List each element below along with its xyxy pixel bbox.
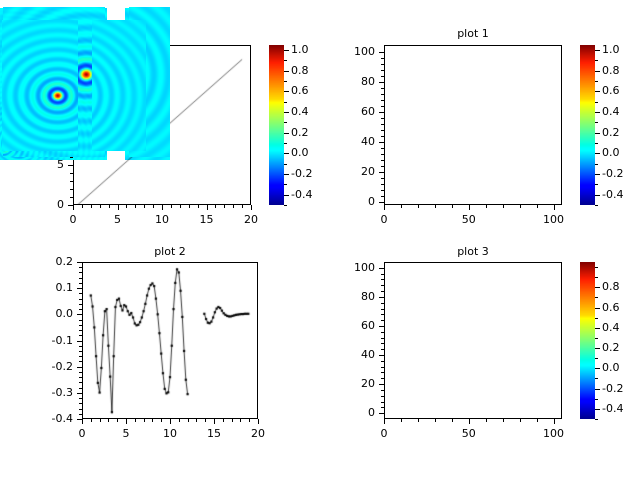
y-tick-minor (381, 390, 384, 391)
x-tick-minor (401, 419, 402, 422)
x-tick-minor (486, 419, 487, 422)
y-tick-minor (381, 361, 384, 362)
heatmap-image-1 (92, 20, 146, 151)
colorbar-tick (595, 409, 600, 410)
x-tick-major (554, 419, 555, 424)
y-tick-label: 100 (329, 261, 375, 274)
y-tick-minor (381, 309, 384, 310)
colorbar-tick-label: -0.4 (602, 402, 623, 415)
y-tick-major (379, 297, 384, 298)
figure-canvas: 0510152005101520-0.4-0.20.00.20.40.60.81… (0, 0, 640, 480)
x-tick-label: 100 (530, 427, 578, 440)
y-tick-major (379, 326, 384, 327)
colorbar-gradient (580, 262, 595, 419)
y-tick-minor (381, 279, 384, 280)
x-tick-minor (435, 419, 436, 422)
x-tick-minor (452, 419, 453, 422)
x-tick-minor (503, 419, 504, 422)
colorbar-tick (595, 308, 600, 309)
colorbar-tick-minor (595, 419, 598, 420)
colorbar-tick-label: 0.0 (602, 361, 620, 374)
y-tick-minor (381, 343, 384, 344)
y-tick-major (379, 413, 384, 414)
y-tick-minor (381, 372, 384, 373)
x-tick-major (384, 419, 385, 424)
colorbar-tick (595, 287, 600, 288)
colorbar-tick-minor (595, 297, 598, 298)
y-tick-minor (381, 314, 384, 315)
y-tick-minor (381, 332, 384, 333)
colorbar-tick-minor (595, 338, 598, 339)
y-tick-minor (381, 396, 384, 397)
y-tick-minor (381, 349, 384, 350)
plot-title-plot-3: plot 3 (384, 245, 562, 258)
colorbar-tick (595, 389, 600, 390)
y-tick-label: 20 (329, 377, 375, 390)
colorbar-tick-minor (595, 378, 598, 379)
y-tick-minor (381, 320, 384, 321)
colorbar-tick-minor (595, 277, 598, 278)
heatmap-image-0 (2, 20, 78, 151)
colorbar-tick-label: -0.2 (602, 382, 623, 395)
y-tick-major (379, 384, 384, 385)
y-tick-label: 0 (329, 406, 375, 419)
y-tick-label: 80 (329, 290, 375, 303)
y-tick-minor (381, 407, 384, 408)
colorbar-tick-label: 0.2 (602, 341, 620, 354)
x-tick-label: 0 (360, 427, 408, 440)
colorbar-tick-minor (595, 399, 598, 400)
y-tick-minor (381, 367, 384, 368)
colorbar-tick (595, 348, 600, 349)
colorbar-tick-label: 0.6 (602, 301, 620, 314)
y-tick-label: 60 (329, 319, 375, 332)
y-tick-minor (381, 378, 384, 379)
colorbar-tick (595, 328, 600, 329)
x-tick-label: 50 (445, 427, 493, 440)
y-tick-minor (381, 291, 384, 292)
y-tick-minor (381, 338, 384, 339)
y-tick-minor (381, 285, 384, 286)
x-tick-minor (520, 419, 521, 422)
colorbar-tick-label: 0.4 (602, 321, 620, 334)
y-tick-major (379, 268, 384, 269)
y-tick-minor (381, 274, 384, 275)
colorbar-tick (595, 368, 600, 369)
colorbar-tick-minor (595, 318, 598, 319)
y-tick-label: 40 (329, 348, 375, 361)
y-tick-minor (381, 303, 384, 304)
x-tick-major (469, 419, 470, 424)
y-tick-major (379, 355, 384, 356)
y-tick-minor (381, 402, 384, 403)
colorbar-tick-minor (595, 358, 598, 359)
x-tick-minor (418, 419, 419, 422)
colorbar-tick-label: 0.8 (602, 280, 620, 293)
colorbar-tick-minor (595, 267, 598, 268)
axes-frame-plot-3 (384, 262, 562, 419)
x-tick-minor (537, 419, 538, 422)
subplot-plot-3: plot 3050100020406080100-0.4-0.20.00.20.… (0, 0, 640, 480)
